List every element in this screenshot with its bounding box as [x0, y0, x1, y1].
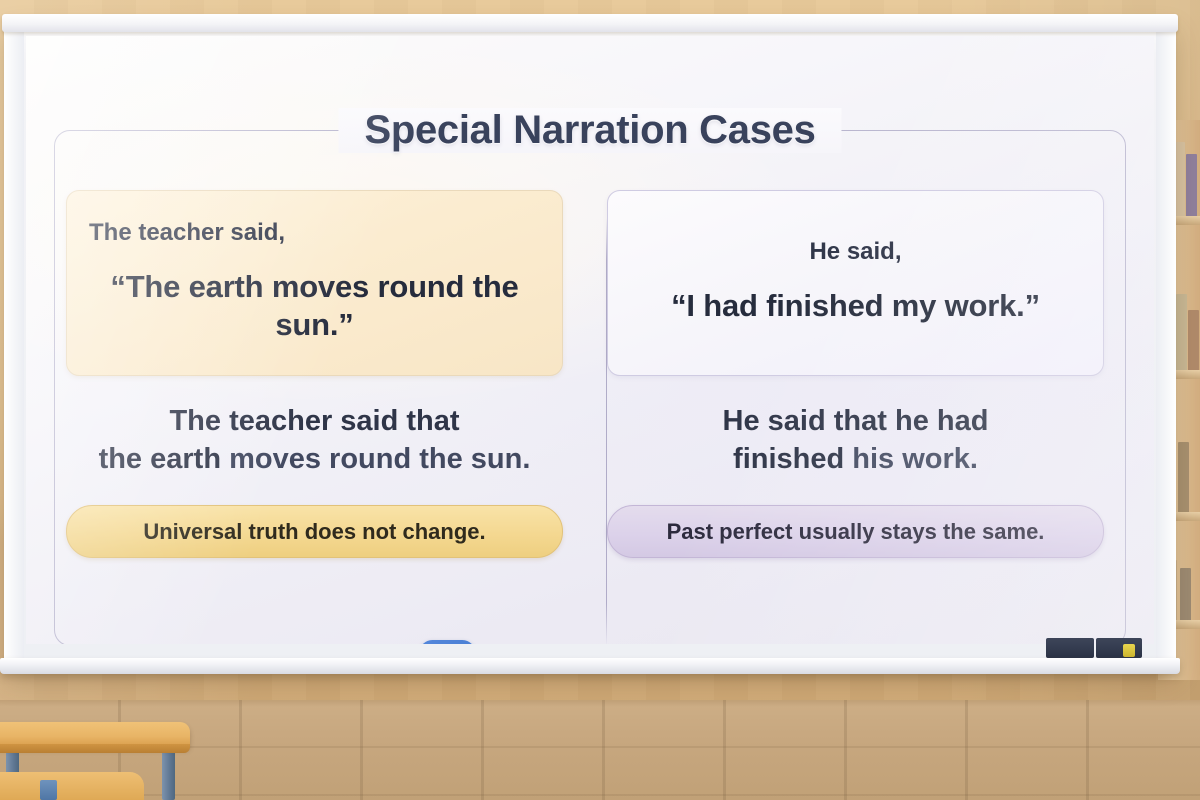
- indirect-rest-right: his work.: [844, 443, 978, 475]
- case-universal-truth: The teacher said, “The earth moves round…: [66, 190, 563, 558]
- desk-edge: [0, 744, 190, 753]
- book: [1180, 568, 1191, 620]
- rule-keyword-left: Universal truth: [143, 519, 298, 544]
- rule-text-right: usually stays the same.: [793, 519, 1045, 544]
- board-frame-right: [1156, 28, 1176, 668]
- indirect-line1-left: The teacher said that: [66, 402, 563, 440]
- indirect-speech-right: He said that he had finished his work.: [607, 402, 1104, 479]
- board-eraser: [1096, 638, 1142, 658]
- site-watermark: G onegrammar.com: [419, 640, 760, 644]
- indirect-line2-left: the earth moves round the sun.: [66, 440, 563, 478]
- indirect-line2-right: finished his work.: [607, 440, 1104, 478]
- rule-badge-right: Past perfect usually stays the same.: [607, 505, 1104, 559]
- book: [1178, 442, 1189, 512]
- indirect-highlight-left: the earth: [99, 443, 221, 475]
- classroom-scene: Special Narration Cases The teacher said…: [0, 0, 1200, 800]
- direct-speech-card-left: The teacher said, “The earth moves round…: [66, 190, 563, 376]
- board-frame-top: [2, 14, 1178, 32]
- board-writing-surface: Special Narration Cases The teacher said…: [26, 36, 1154, 644]
- whiteboard: Special Narration Cases The teacher said…: [6, 22, 1174, 670]
- indirect-speech-left: The teacher said that the earth moves ro…: [66, 402, 563, 479]
- rule-badge-left: Universal truth does not change.: [66, 505, 563, 559]
- cases-container: The teacher said, “The earth moves round…: [66, 190, 1136, 558]
- speaker-label-right: He said,: [630, 238, 1081, 267]
- direct-quote-right: “I had finished my work.”: [630, 287, 1081, 325]
- desk-book: [40, 780, 57, 800]
- indirect-highlight-right: finished: [733, 443, 844, 475]
- desk-shelf: [0, 772, 144, 800]
- onegrammar-logo-icon: G: [419, 640, 475, 644]
- title-container: Special Narration Cases: [338, 108, 841, 153]
- speaker-label-left: The teacher said,: [89, 219, 540, 248]
- board-tray: [0, 658, 1180, 674]
- book: [1186, 154, 1197, 216]
- desk-leg: [162, 748, 175, 800]
- book: [1188, 310, 1199, 370]
- case-past-perfect: He said, “I had finished my work.” He sa…: [607, 190, 1104, 558]
- indirect-line1-right: He said that he had: [607, 402, 1104, 440]
- book: [1176, 294, 1187, 370]
- indirect-rest-left: moves round the sun.: [221, 443, 530, 475]
- rule-text-left: does not change.: [299, 519, 486, 544]
- rule-keyword-right: Past perfect: [667, 519, 793, 544]
- board-eraser: [1046, 638, 1094, 658]
- board-frame-left: [4, 28, 24, 668]
- direct-speech-card-right: He said, “I had finished my work.”: [607, 190, 1104, 376]
- board-marker: [1123, 644, 1135, 657]
- direct-quote-left: “The earth moves round the sun.”: [89, 268, 540, 345]
- page-title: Special Narration Cases: [364, 108, 815, 153]
